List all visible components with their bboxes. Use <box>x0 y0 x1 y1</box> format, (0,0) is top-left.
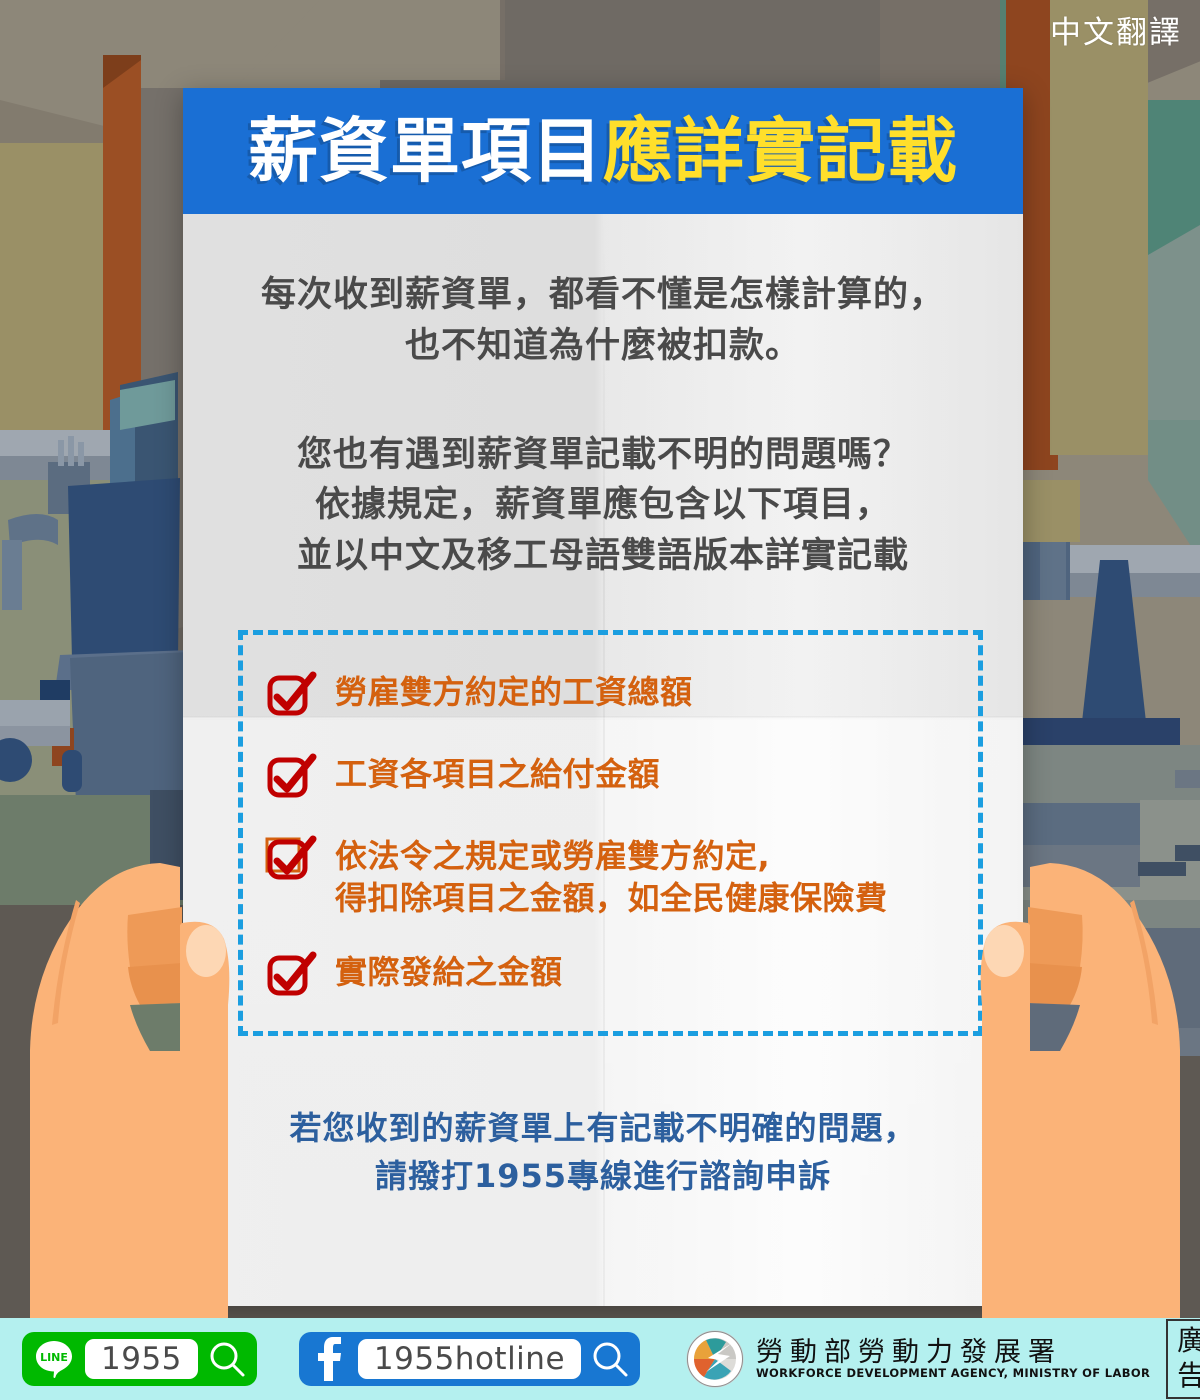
facebook-contact-chip[interactable]: 1955hotline <box>299 1332 640 1386</box>
intro-p2-line3: 並以中文及移工母語雙語版本詳實記載 <box>223 531 983 582</box>
checklist-item: 實際發給之金額 <box>265 949 960 1001</box>
contact-bottom-bar: LINE 1955 1955hotline <box>0 1318 1200 1400</box>
checkbox-checked-icon <box>265 951 317 1001</box>
intro-p1-line1: 每次收到薪資單，都看不懂是怎樣計算的， <box>223 270 983 321</box>
intro-p2-line2: 依據規定，薪資單應包含以下項目， <box>223 480 983 531</box>
checklist-item: 工資各項目之給付金額 <box>265 751 960 803</box>
checklist-item: 依法令之規定或勞雇雙方約定, 得扣除項目之金額，如全民健康保險費 <box>265 833 960 919</box>
agency-name-chinese: 勞動部勞動力發展署 <box>756 1338 1150 1367</box>
workforce-development-agency-logo-icon <box>686 1330 744 1388</box>
checklist-item-line2: 得扣除項目之金額，如全民健康保險費 <box>335 877 888 919</box>
checklist-item-label: 實際發給之金額 <box>335 949 563 993</box>
closing-line2: 請撥打1955專線進行諮詢申訴 <box>223 1152 983 1200</box>
checklist-box: 勞雇雙方約定的工資總額 工資各項目之給付金額 依法令之規定或勞雇雙方約定, 得扣… <box>238 630 983 1036</box>
advertisement-label: 廣告 <box>1166 1319 1200 1399</box>
agency-name-english: WORKFORCE DEVELOPMENT AGENCY, MINISTRY O… <box>756 1367 1150 1381</box>
svg-text:LINE: LINE <box>40 1351 68 1364</box>
checkbox-checked-icon <box>265 671 317 721</box>
agency-branding: 勞動部勞動力發展署 WORKFORCE DEVELOPMENT AGENCY, … <box>686 1330 1150 1388</box>
closing-line1: 若您收到的薪資單上有記載不明確的問題， <box>223 1104 983 1152</box>
intro-text-block: 每次收到薪資單，都看不懂是怎樣計算的， 也不知道為什麼被扣款。 您也有遇到薪資單… <box>183 270 1023 582</box>
poster-title-bar: 薪資單項目應詳實記載 <box>183 88 1023 214</box>
title-segment-yellow: 應詳實記載 <box>603 110 958 192</box>
checklist-item-label: 勞雇雙方約定的工資總額 <box>335 669 693 713</box>
facebook-icon <box>309 1336 349 1382</box>
closing-note: 若您收到的薪資單上有記載不明確的問題， 請撥打1955專線進行諮詢申訴 <box>183 1104 1023 1200</box>
left-hand-holding-poster <box>0 855 250 1320</box>
checklist-item-line1: 工資各項目之給付金額 <box>335 753 660 795</box>
intro-paragraph-1: 每次收到薪資單，都看不懂是怎樣計算的， 也不知道為什麼被扣款。 <box>223 270 983 372</box>
checklist-item: 勞雇雙方約定的工資總額 <box>265 669 960 721</box>
checklist-item-line1: 勞雇雙方約定的工資總額 <box>335 671 693 713</box>
translation-label: 中文翻譯 <box>1050 18 1182 49</box>
checklist-item-label: 依法令之規定或勞雇雙方約定, 得扣除項目之金額，如全民健康保險費 <box>335 833 888 919</box>
facebook-page-value: 1955hotline <box>358 1339 581 1379</box>
checkbox-checked-icon <box>265 753 317 803</box>
line-icon: LINE <box>32 1337 76 1381</box>
poster-sheet: 薪資單項目應詳實記載 每次收到薪資單，都看不懂是怎樣計算的， 也不知道為什麼被扣… <box>183 88 1023 1306</box>
intro-p2-line1: 您也有遇到薪資單記載不明的問題嗎？ <box>223 430 983 481</box>
checklist-item-label: 工資各項目之給付金額 <box>335 751 660 795</box>
title-segment-white: 薪資單項目 <box>248 110 603 192</box>
line-contact-chip[interactable]: LINE 1955 <box>22 1332 257 1386</box>
page-title: 薪資單項目應詳實記載 <box>248 116 958 186</box>
line-id-value: 1955 <box>85 1339 198 1379</box>
intro-p1-line2: 也不知道為什麼被扣款。 <box>223 321 983 372</box>
checklist-item-line1: 依法令之規定或勞雇雙方約定, <box>335 835 888 877</box>
intro-paragraph-2: 您也有遇到薪資單記載不明的問題嗎？ 依據規定，薪資單應包含以下項目， 並以中文及… <box>223 430 983 582</box>
right-hand-holding-poster <box>960 855 1200 1320</box>
search-icon[interactable] <box>207 1339 247 1379</box>
checklist-item-line1: 實際發給之金額 <box>335 951 563 993</box>
search-icon[interactable] <box>590 1339 630 1379</box>
checkbox-checked-icon <box>265 835 317 885</box>
